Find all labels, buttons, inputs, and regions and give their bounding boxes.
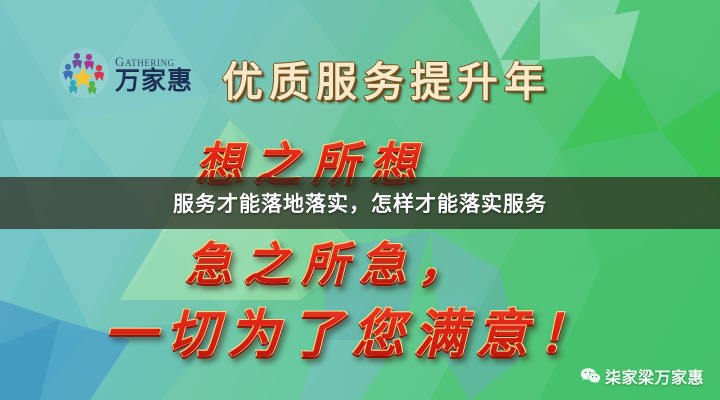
brand-logo: Gathering 万家惠 bbox=[58, 42, 210, 104]
caption-overlay-band: 服务才能落地落实，怎样才能落实服务 bbox=[0, 177, 720, 229]
brand-wordmark: Gathering 万家惠 bbox=[115, 53, 193, 94]
slogan-line-3: 一切为了您满意！ bbox=[104, 292, 600, 367]
watermark: 柒家梁万家惠 bbox=[580, 364, 704, 388]
slogan-line-2: 急之所急， bbox=[186, 228, 476, 294]
poster-headline: 优质服务提升年 bbox=[222, 48, 551, 108]
poster-image: Gathering 万家惠 优质服务提升年 想之所想 急之所急， 一切为了您满意… bbox=[0, 0, 720, 400]
gathering-people-circle-logo bbox=[58, 47, 110, 99]
wechat-icon bbox=[580, 367, 601, 385]
watermark-text: 柒家梁万家惠 bbox=[605, 364, 704, 388]
caption-text: 服务才能落地落实，怎样才能落实服务 bbox=[173, 188, 547, 218]
brand-name-cn: 万家惠 bbox=[115, 69, 193, 94]
brand-name-en: Gathering bbox=[115, 55, 193, 68]
